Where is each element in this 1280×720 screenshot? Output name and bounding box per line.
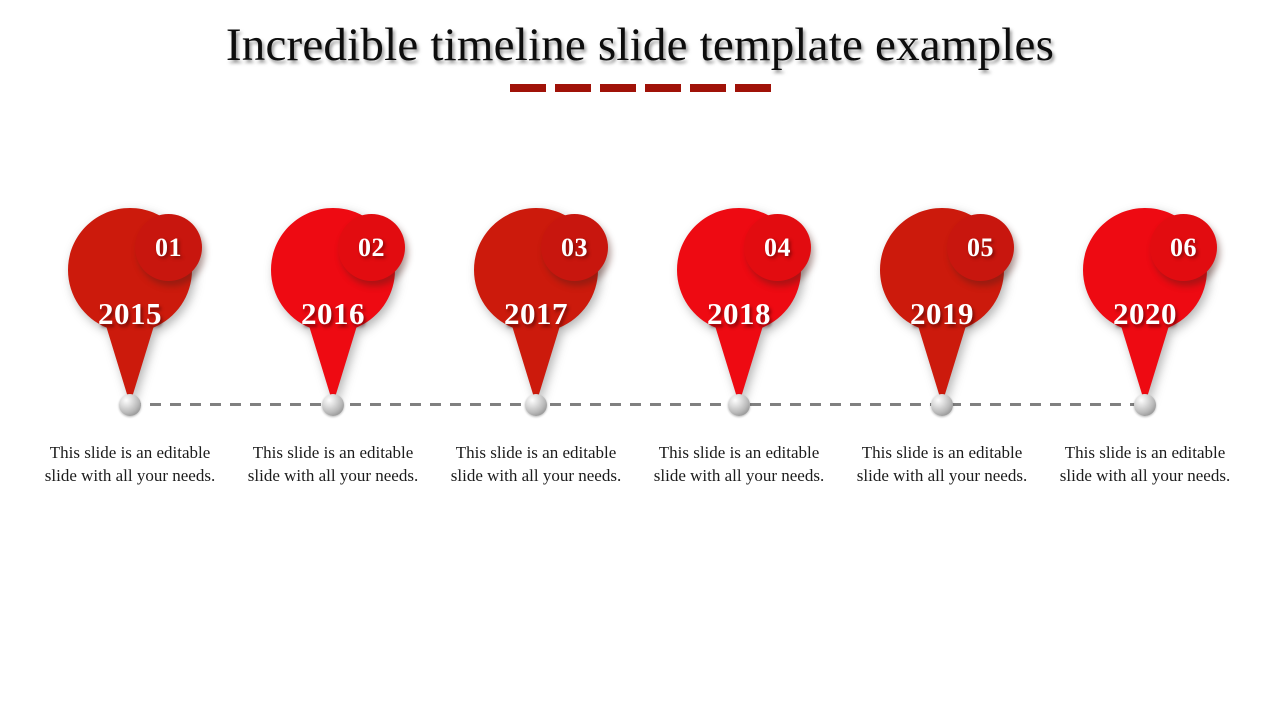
timeline-node-caption: This slide is an editable slide with all…: [644, 442, 834, 487]
timeline-node-connector: [1134, 394, 1156, 416]
timeline-node-badge[interactable]: 05: [947, 214, 1014, 281]
timeline-node-connector: [119, 394, 141, 416]
timeline-node-connector: [728, 394, 750, 416]
timeline-node-number: 05: [967, 233, 994, 263]
timeline-node-caption: This slide is an editable slide with all…: [1050, 442, 1240, 487]
timeline-node[interactable]: 201602This slide is an editable slide wi…: [231, 0, 435, 720]
timeline-node-number: 03: [561, 233, 588, 263]
timeline-node-caption: This slide is an editable slide with all…: [35, 442, 225, 487]
timeline-node-connector: [931, 394, 953, 416]
timeline-node-badge[interactable]: 02: [338, 214, 405, 281]
timeline: 201501This slide is an editable slide wi…: [0, 0, 1280, 720]
timeline-node[interactable]: 201905This slide is an editable slide wi…: [840, 0, 1044, 720]
timeline-node-number: 01: [155, 233, 182, 263]
slide-canvas: Incredible timeline slide template examp…: [0, 0, 1280, 720]
timeline-node-number: 06: [1170, 233, 1197, 263]
timeline-node-number: 02: [358, 233, 385, 263]
timeline-node-badge[interactable]: 03: [541, 214, 608, 281]
timeline-node-badge[interactable]: 01: [135, 214, 202, 281]
timeline-node-number: 04: [764, 233, 791, 263]
timeline-node-badge[interactable]: 06: [1150, 214, 1217, 281]
timeline-node[interactable]: 201703This slide is an editable slide wi…: [434, 0, 638, 720]
timeline-node-connector: [525, 394, 547, 416]
timeline-node-caption: This slide is an editable slide with all…: [441, 442, 631, 487]
timeline-node-caption: This slide is an editable slide with all…: [238, 442, 428, 487]
timeline-node-caption: This slide is an editable slide with all…: [847, 442, 1037, 487]
timeline-node[interactable]: 201804This slide is an editable slide wi…: [637, 0, 841, 720]
timeline-node-connector: [322, 394, 344, 416]
timeline-node-badge[interactable]: 04: [744, 214, 811, 281]
timeline-node[interactable]: 201501This slide is an editable slide wi…: [28, 0, 232, 720]
timeline-node[interactable]: 202006This slide is an editable slide wi…: [1043, 0, 1247, 720]
